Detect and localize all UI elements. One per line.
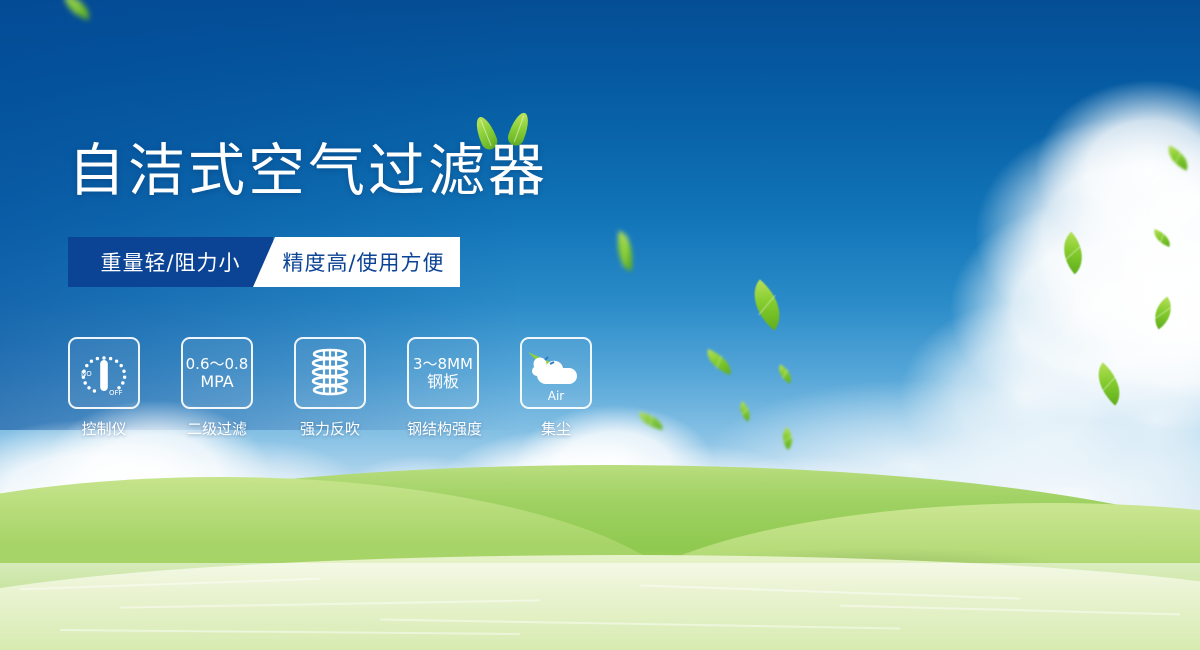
feature-item-two-stage-filter[interactable]: 0.6～0.8 MPA 二级过滤 <box>181 337 253 439</box>
subtitle-right-text: 精度高/使用方便 <box>268 247 444 277</box>
dial-gauge-icon: NO OFF <box>74 345 134 401</box>
feature-list: NO OFF 控制仪 0.6～0.8 MPA 二级过滤 <box>68 337 592 439</box>
steel-plate-text: 钢板 <box>427 373 459 391</box>
feature-icon-box: 0.6～0.8 MPA <box>181 337 253 409</box>
subtitle-left-text: 重量轻/阻力小 <box>100 247 240 277</box>
feature-label: 集尘 <box>520 418 592 439</box>
feature-label: 钢结构强度 <box>407 418 479 439</box>
subtitle-bar: 重量轻/阻力小 精度高/使用方便 <box>68 237 460 287</box>
feature-icon-box: NO OFF <box>68 337 140 409</box>
feature-label: 二级过滤 <box>181 418 253 439</box>
dial-on-label: NO <box>81 370 92 378</box>
subtitle-right-panel: 精度高/使用方便 <box>253 237 460 287</box>
feature-label: 控制仪 <box>68 418 140 439</box>
feature-icon-box: Air <box>520 337 592 409</box>
pressure-range-text: 0.6～0.8 <box>186 355 249 373</box>
cloud-air-icon <box>524 346 588 394</box>
feature-item-dust-collection[interactable]: Air 集尘 <box>520 337 592 439</box>
feature-icon-box <box>294 337 366 409</box>
feature-item-steel-structure[interactable]: 3～8MM 钢板 钢结构强度 <box>407 337 479 439</box>
page-title: 自洁式空气过滤器 <box>68 143 548 200</box>
pressure-unit-text: MPA <box>200 373 233 391</box>
grass-field <box>0 455 1200 650</box>
steel-thickness-text: 3～8MM <box>413 355 473 373</box>
feature-item-strong-backblow[interactable]: 强力反吹 <box>294 337 366 439</box>
hero-banner: 自洁式空气过滤器 重量轻/阻力小 精度高/使用方便 <box>0 0 1200 650</box>
feature-icon-box: 3～8MM 钢板 <box>407 337 479 409</box>
feature-item-control-instrument[interactable]: NO OFF 控制仪 <box>68 337 140 439</box>
subtitle-left-panel: 重量轻/阻力小 <box>68 237 273 287</box>
air-label: Air <box>522 389 590 403</box>
feature-label: 强力反吹 <box>294 418 366 439</box>
coil-stack-icon <box>304 345 356 401</box>
dial-off-label: OFF <box>109 389 123 397</box>
